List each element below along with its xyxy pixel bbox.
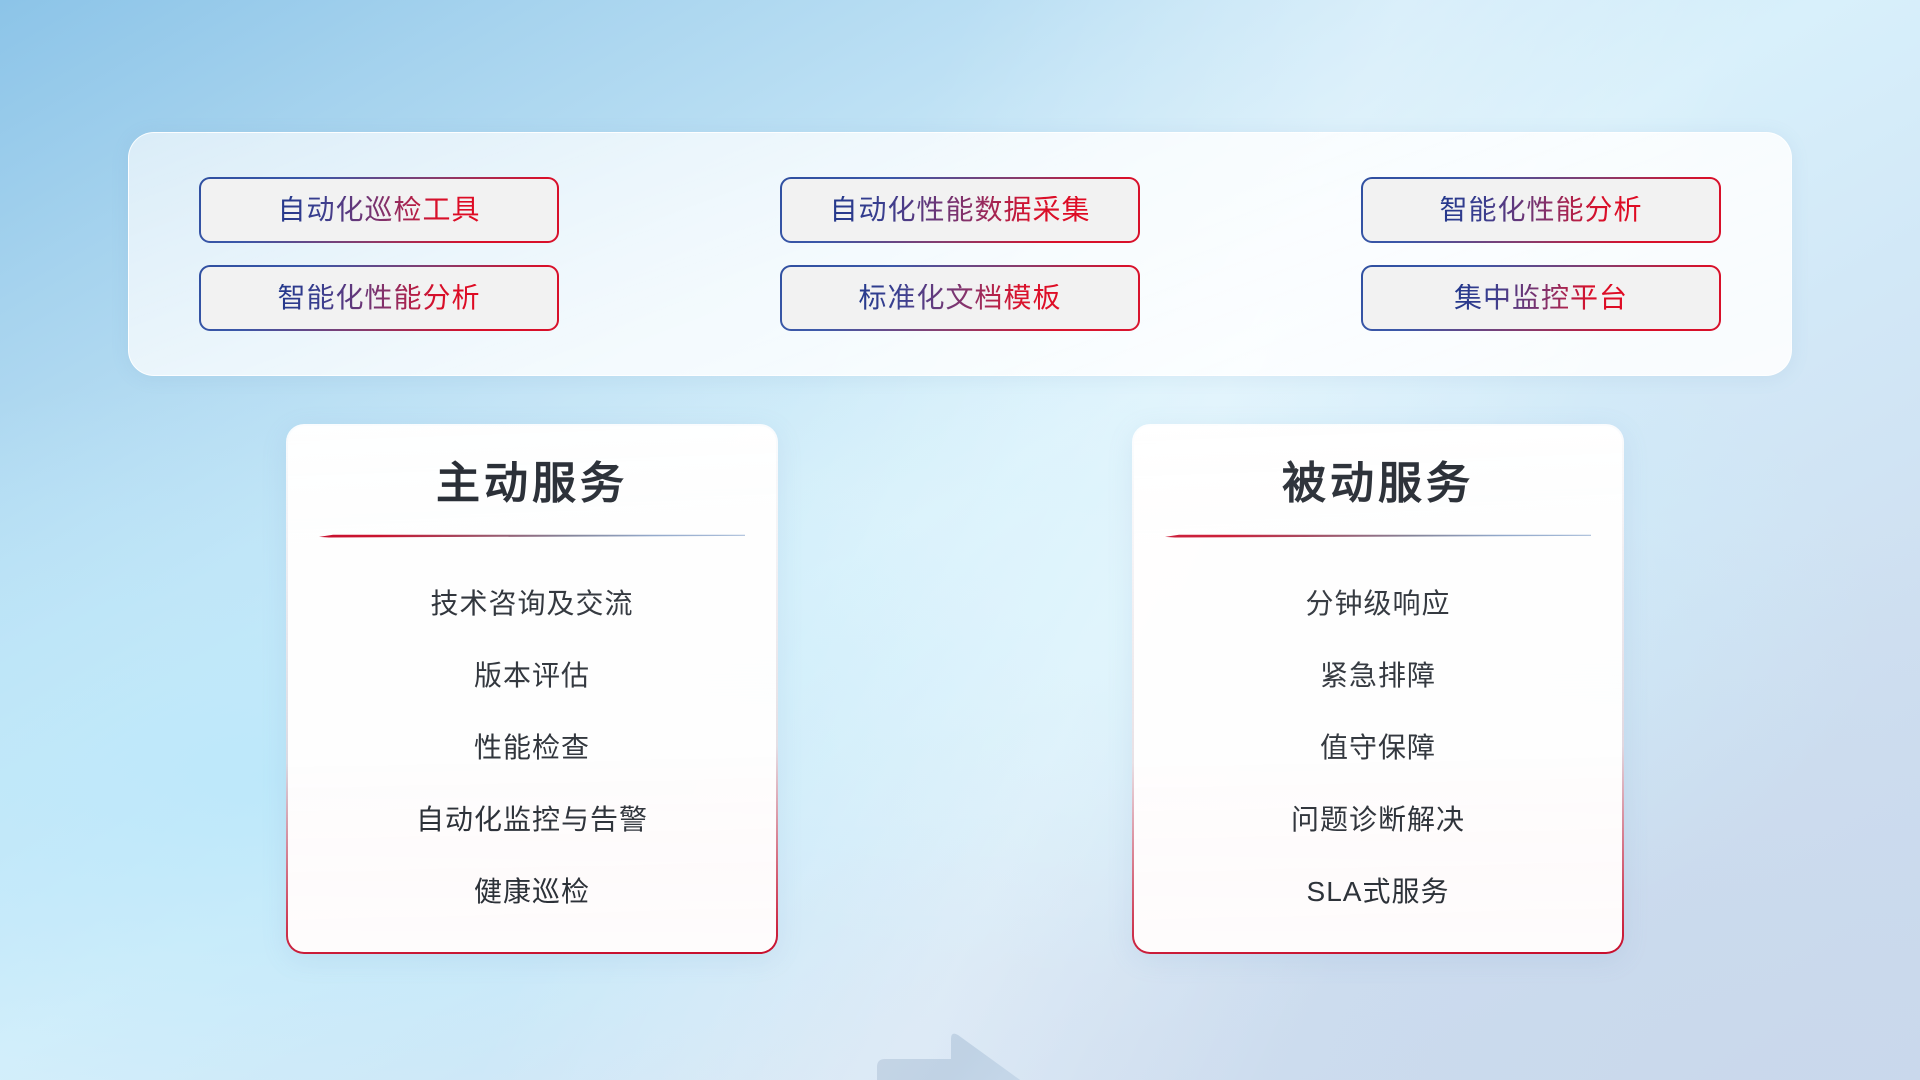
capability-tag[interactable]: 智能化性能分析 [1361, 177, 1721, 243]
capability-tag-label: 智能化性能分析 [1439, 196, 1642, 224]
capability-tag[interactable]: 集中监控平台 [1361, 265, 1721, 331]
capability-tag-label: 智能化性能分析 [277, 284, 480, 312]
service-card-proactive[interactable]: 主动服务 技术咨询及交流 版本评估 性能检查 自动化监控与告警 健康巡检 [286, 424, 778, 954]
capability-tag-label: 标准化文档模板 [858, 284, 1061, 312]
capabilities-panel: 自动化巡检工具 自动化性能数据采集 智能化性能分析 智能化性能分析 标准化文档模… [128, 132, 1792, 376]
list-item[interactable]: 健康巡检 [474, 856, 590, 928]
list-item[interactable]: 技术咨询及交流 [430, 568, 633, 640]
capability-row-2: 智能化性能分析 标准化文档模板 集中监控平台 [199, 265, 1721, 331]
card-title: 被动服务 [1282, 460, 1474, 508]
list-item[interactable]: SLA式服务 [1307, 856, 1450, 928]
capability-tag[interactable]: 自动化性能数据采集 [780, 177, 1140, 243]
title-divider-rule [319, 534, 745, 538]
capability-row-1: 自动化巡检工具 自动化性能数据采集 智能化性能分析 [199, 177, 1721, 243]
card-title: 主动服务 [436, 460, 628, 508]
service-item-list: 分钟级响应 紧急排障 值守保障 问题诊断解决 SLA式服务 [1160, 568, 1596, 928]
list-item[interactable]: 分钟级响应 [1305, 568, 1450, 640]
list-item[interactable]: 紧急排障 [1320, 640, 1436, 712]
arrow-right-icon [869, 1029, 1034, 1080]
service-cards-section: 主动服务 技术咨询及交流 版本评估 性能检查 自动化监控与告警 健康巡检 [0, 424, 1920, 954]
list-item[interactable]: 版本评估 [474, 640, 590, 712]
title-divider-rule [1165, 534, 1591, 538]
list-item[interactable]: 问题诊断解决 [1291, 784, 1465, 856]
list-item[interactable]: 自动化监控与告警 [416, 784, 648, 856]
list-item[interactable]: 值守保障 [1320, 712, 1436, 784]
capability-tag-label: 集中监控平台 [1454, 284, 1628, 312]
capability-tag-label: 自动化巡检工具 [277, 196, 480, 224]
service-card-reactive[interactable]: 被动服务 分钟级响应 紧急排障 值守保障 问题诊断解决 SLA式服务 [1132, 424, 1624, 954]
capability-tag-label: 自动化性能数据采集 [829, 196, 1090, 224]
capability-tag[interactable]: 标准化文档模板 [780, 265, 1140, 331]
capability-tag[interactable]: 智能化性能分析 [199, 265, 559, 331]
capability-tag[interactable]: 自动化巡检工具 [199, 177, 559, 243]
list-item[interactable]: 性能检查 [474, 712, 590, 784]
service-item-list: 技术咨询及交流 版本评估 性能检查 自动化监控与告警 健康巡检 [314, 568, 750, 928]
